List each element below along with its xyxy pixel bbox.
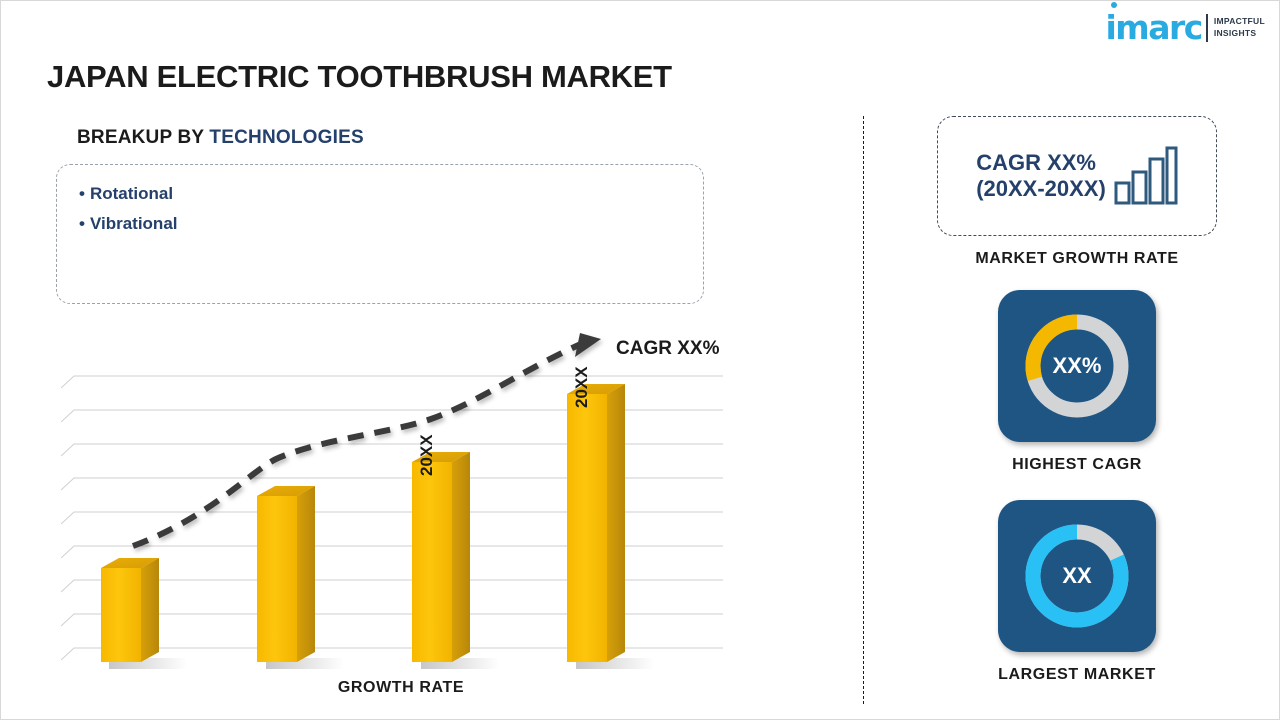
largest-market-value: XX xyxy=(998,563,1156,589)
chart-bar xyxy=(257,486,315,662)
logo-tagline: IMPACTFUL INSIGHTS xyxy=(1214,16,1265,39)
bar-label: 20XX xyxy=(572,366,591,408)
chart-bar xyxy=(101,558,159,662)
market-growth-caption: MARKET GROWTH RATE xyxy=(881,250,1273,268)
growth-value: CAGR XX% (20XX-20XX) xyxy=(976,150,1106,202)
growth-value-line1: CAGR XX% xyxy=(976,150,1106,176)
panel-divider xyxy=(863,116,864,704)
chart-canvas: 20XX 20XX xyxy=(61,331,741,676)
trend-arrow xyxy=(133,333,601,546)
breakup-heading: BREAKUP BY TECHNOLOGIES xyxy=(77,127,364,149)
list-item: •Vibrational xyxy=(79,209,703,239)
segment-label: Rotational xyxy=(90,184,173,203)
page-title: JAPAN ELECTRIC TOOTHBRUSH MARKET xyxy=(47,59,672,95)
segment-label: Vibrational xyxy=(90,214,178,233)
chart-bar: 20XX xyxy=(412,434,470,662)
bullet-icon: • xyxy=(79,214,85,233)
highest-cagr-kpi: XX% HIGHEST CAGR xyxy=(881,290,1273,474)
largest-market-kpi: XX LARGEST MARKET xyxy=(881,500,1273,684)
cagr-callout: CAGR XX% xyxy=(616,338,719,360)
kpi-panel: CAGR XX% (20XX-20XX) MARKET GROWTH RATE … xyxy=(881,116,1273,684)
largest-market-card: XX xyxy=(998,500,1156,652)
breakup-accent: TECHNOLOGIES xyxy=(209,127,363,148)
growth-rate-chart: 20XX 20XX CAGR XX% GROWTH RATE xyxy=(61,331,741,676)
logo-dot-icon xyxy=(1111,2,1117,8)
chart-x-axis-label: GROWTH RATE xyxy=(61,679,741,697)
highest-cagr-value: XX% xyxy=(998,353,1156,379)
logo-tagline-line2: INSIGHTS xyxy=(1214,28,1265,39)
logo-tagline-line1: IMPACTFUL xyxy=(1214,16,1265,27)
logo-divider xyxy=(1206,14,1208,42)
chart-bar: 20XX xyxy=(567,366,625,662)
list-item: •Rotational xyxy=(79,179,703,209)
bar-chart-icon xyxy=(1114,145,1178,207)
bullet-icon: • xyxy=(79,184,85,203)
highest-cagr-card: XX% xyxy=(998,290,1156,442)
segment-box: •Rotational •Vibrational xyxy=(56,164,704,304)
highest-cagr-caption: HIGHEST CAGR xyxy=(881,456,1273,474)
bar-label: 20XX xyxy=(417,434,436,476)
segment-list: •Rotational •Vibrational xyxy=(57,165,703,239)
breakup-prefix: BREAKUP BY xyxy=(77,127,209,148)
largest-market-caption: LARGEST MARKET xyxy=(881,666,1273,684)
growth-value-line2: (20XX-20XX) xyxy=(976,176,1106,202)
market-growth-box: CAGR XX% (20XX-20XX) xyxy=(937,116,1217,236)
imarc-logo: imarc IMPACTFUL INSIGHTS xyxy=(1106,11,1266,44)
logo-wordmark: imarc xyxy=(1106,11,1202,44)
arrowhead-icon xyxy=(575,333,601,357)
